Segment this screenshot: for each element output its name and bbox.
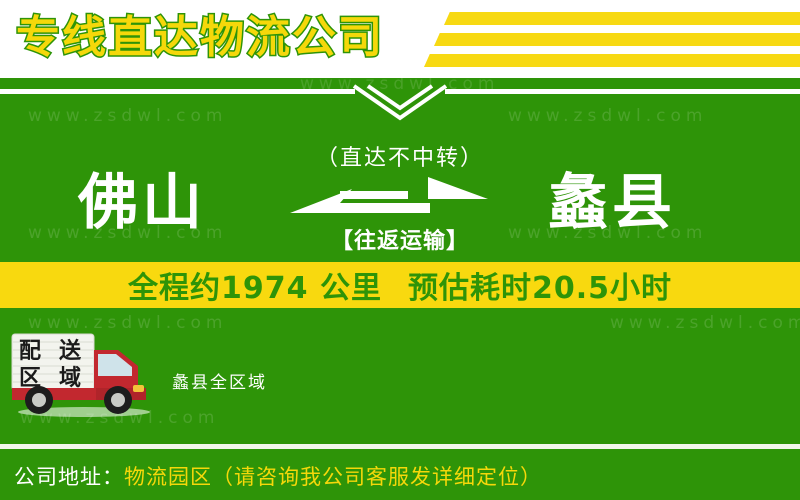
poster-header: 专线直达物流公司 bbox=[0, 0, 800, 78]
roundtrip-label: 【往返运输】 bbox=[0, 223, 800, 255]
truck-box-char-4: 域 bbox=[59, 365, 81, 391]
truck-box-char-3: 区 bbox=[19, 366, 41, 391]
address-value: 物流园区（请咨询我公司客服发详细定位） bbox=[124, 461, 542, 491]
watermark-text: www.zsdwl.com bbox=[28, 106, 227, 126]
chevron-down-icon bbox=[352, 84, 448, 124]
page-title: 专线直达物流公司 bbox=[16, 8, 384, 68]
distance-text: 全程约1974 公里 bbox=[128, 263, 382, 307]
truck-box-char-1: 配 bbox=[19, 339, 41, 364]
poster-main-body: www.zsdwl.com www.zsdwl.com www.zsdwl.co… bbox=[0, 78, 800, 452]
header-stripes-decoration bbox=[420, 10, 800, 72]
coverage-area-text: 蠡县全区域 bbox=[172, 368, 267, 393]
logistics-poster: 专线直达物流公司 www.zsdwl.com www.zsdwl.com www… bbox=[0, 0, 800, 500]
truck-box-char-2: 送 bbox=[59, 338, 81, 364]
watermark-text: www.zsdwl.com bbox=[610, 313, 800, 333]
address-label: 公司地址： bbox=[0, 461, 124, 491]
duration-text: 预估耗时20.5小时 bbox=[408, 263, 672, 307]
direct-route-label: （直达不中转） bbox=[0, 140, 800, 172]
poster-footer: 公司地址： 物流园区（请咨询我公司客服发详细定位） bbox=[0, 452, 800, 500]
bidirectional-arrow-icon bbox=[280, 173, 500, 219]
stripe-2 bbox=[434, 33, 800, 46]
stripe-3 bbox=[424, 54, 800, 67]
bottom-divider-line bbox=[0, 444, 800, 449]
delivery-truck-icon: 配 送 区 域 bbox=[6, 330, 166, 420]
stripe-1 bbox=[444, 12, 800, 25]
watermark-text: www.zsdwl.com bbox=[508, 106, 707, 126]
info-band: 全程约1974 公里 预估耗时20.5小时 bbox=[0, 262, 800, 308]
